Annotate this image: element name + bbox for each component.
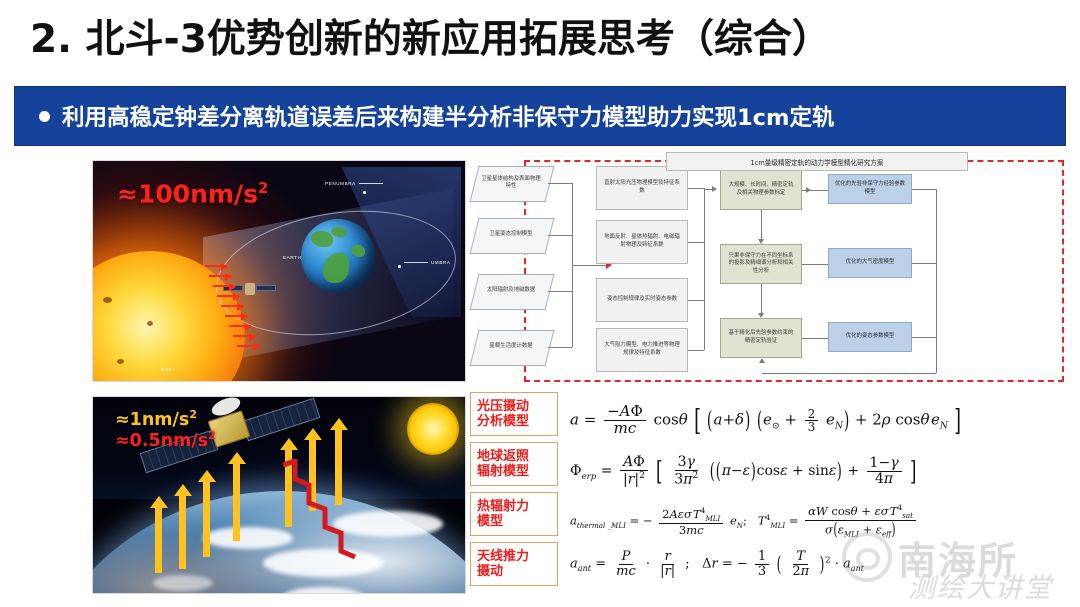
flow-input-label-0: 卫星星体结构及表面物理特性 — [474, 166, 548, 200]
label-umbra: UMBRA — [401, 260, 451, 265]
flowchart-title: 1cm量级精密定轨的动力学模型精化研究方案 — [666, 152, 968, 171]
flow-output-box-2: 优化的姿态参数模型 — [828, 322, 912, 352]
slide-root: 2. 北斗-3优势创新的新应用拓展思考（综合） 利用高稳定钟差分离轨道误差后来构… — [0, 0, 1080, 607]
equation-erp: Φerp = AΦ|r|2 [ 3γ3π2 ((π−ε)cosε + sinε)… — [570, 455, 917, 487]
model-label-antenna: 天线推力 摄动 — [470, 542, 558, 586]
accel-tag-srp: ≈100nm/s2 — [117, 179, 268, 208]
flow-process-box-2: 基于精化后先验参数约束的精密定轨验证 — [720, 318, 802, 358]
flow-output-box-0: 优化的先验非保守力经验参数模型 — [828, 174, 912, 204]
model-label-thermal: 热辐射力 模型 — [470, 492, 558, 536]
flow-input-label-2: 太阳辐射及地磁数据 — [474, 274, 548, 308]
page-title: 2. 北斗-3优势创新的新应用拓展思考（综合） — [30, 8, 1050, 64]
earth-albedo-image: ≈1nm/s2 ≈0.5nm/s2 — [92, 396, 466, 594]
flow-model-box-0: 直射太阳光压物理模型及特征系数 — [596, 166, 688, 210]
equations-panel: 光压摄动 分析模型 地球返照 辐射模型 热辐射力 模型 天线推力 摄动 a = … — [470, 392, 1070, 597]
flow-process-box-0: 大规模、长时间、精密定轨及相关物理参数标定 — [720, 170, 802, 210]
flow-model-box-3: 大气阻力模型、电力推进等物理规律及特征系数 — [596, 328, 688, 372]
flow-process-box-1: 只果非保守力在不同坐标系的投影及精细谱分析和相关性分析 — [720, 244, 802, 284]
label-sun: SUN — [161, 367, 173, 372]
flow-model-box-2: 姿态控制规律及实时姿态参数 — [596, 278, 688, 322]
highlight-banner: 利用高稳定钟差分离轨道误差后来构建半分析非保守力模型助力实现1cm定轨 — [14, 86, 1066, 146]
ground-track-zigzag — [279, 459, 369, 569]
flow-input-label-3: 星载生活度计数据 — [474, 330, 548, 364]
bullet-icon — [39, 111, 50, 122]
flow-model-box-1: 地面反射、星体热辐射、电磁辐射物理及特征系数 — [596, 220, 688, 264]
solar-radiation-pressure-image: PENUMBRA EARTH UMBRA SUN ≈100nm/s2 — [92, 160, 466, 382]
accel-tags-albedo: ≈1nm/s2 ≈0.5nm/s2 — [115, 409, 216, 452]
model-label-erp: 地球返照 辐射模型 — [470, 442, 558, 486]
flowchart: 1cm量级精密定轨的动力学模型精化研究方案 卫星星体结构及表面物理特性 卫星姿态… — [470, 152, 1070, 384]
flow-input-label-1: 卫星姿态控制模型 — [474, 218, 548, 252]
equation-srp: a = −AΦmc cosθ [ (a+δ) (e⊙ + 23 eN) + 2ρ… — [570, 404, 962, 437]
equation-antenna: aant = Pmc · r|r| ; Δr = − 13 ( T2π )2 ·… — [570, 550, 864, 578]
banner-text: 利用高稳定钟差分离轨道误差后来构建半分析非保守力模型助力实现1cm定轨 — [62, 100, 834, 132]
label-penumbra: PENUMBRA — [325, 181, 386, 186]
label-earth: EARTH — [283, 255, 302, 260]
satellite-graphic — [245, 283, 255, 295]
earth-graphic — [301, 219, 375, 293]
flow-output-box-1: 优化的大气密度模型 — [828, 248, 912, 278]
equation-thermal: athermal _MLI = − 2Aεσ T4MLI3mc eN; T4ML… — [570, 504, 919, 539]
sun-graphic-small — [407, 403, 459, 455]
model-label-srp: 光压摄动 分析模型 — [470, 392, 558, 436]
